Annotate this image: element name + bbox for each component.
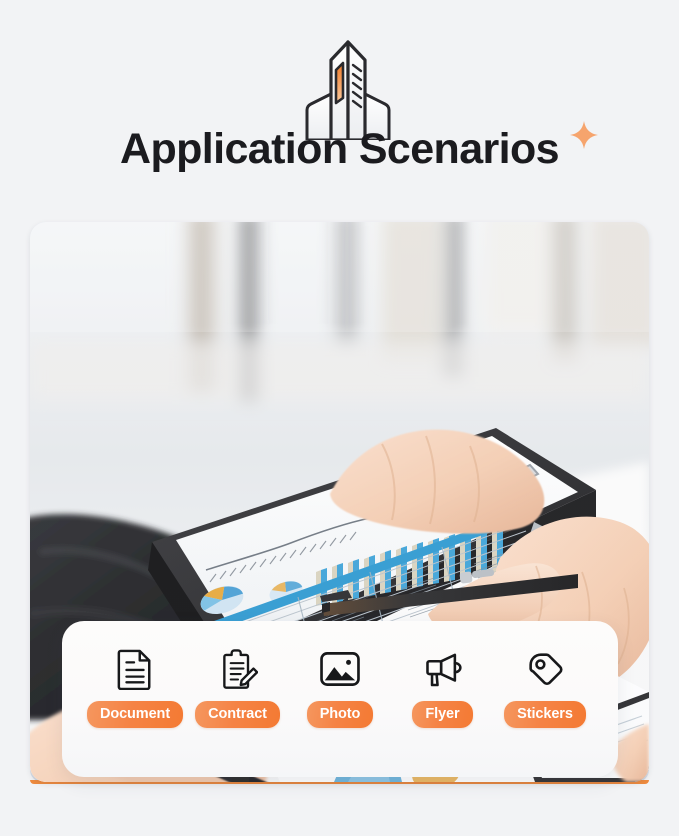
header: Application Scenarios: [0, 0, 679, 212]
document-icon: [114, 647, 156, 691]
category-item-photo[interactable]: Photo: [289, 647, 391, 728]
category-label-flyer: Flyer: [412, 701, 472, 728]
category-label-document: Document: [87, 701, 183, 728]
megaphone-icon: [422, 647, 464, 691]
category-label-stickers: Stickers: [504, 701, 586, 728]
scenario-category-card: Document Contract Photo: [62, 621, 618, 777]
category-item-flyer[interactable]: Flyer: [392, 647, 494, 728]
category-item-document[interactable]: Document: [84, 647, 186, 728]
price-tag-icon: [524, 647, 566, 691]
category-item-contract[interactable]: Contract: [187, 647, 289, 728]
sparkle-icon: [568, 119, 600, 151]
category-item-stickers[interactable]: Stickers: [494, 647, 596, 728]
clipboard-pen-icon: [217, 647, 259, 691]
category-label-photo: Photo: [307, 701, 374, 728]
page-title: Application Scenarios: [120, 128, 559, 171]
image-icon: [319, 647, 361, 691]
category-label-contract: Contract: [195, 701, 280, 728]
